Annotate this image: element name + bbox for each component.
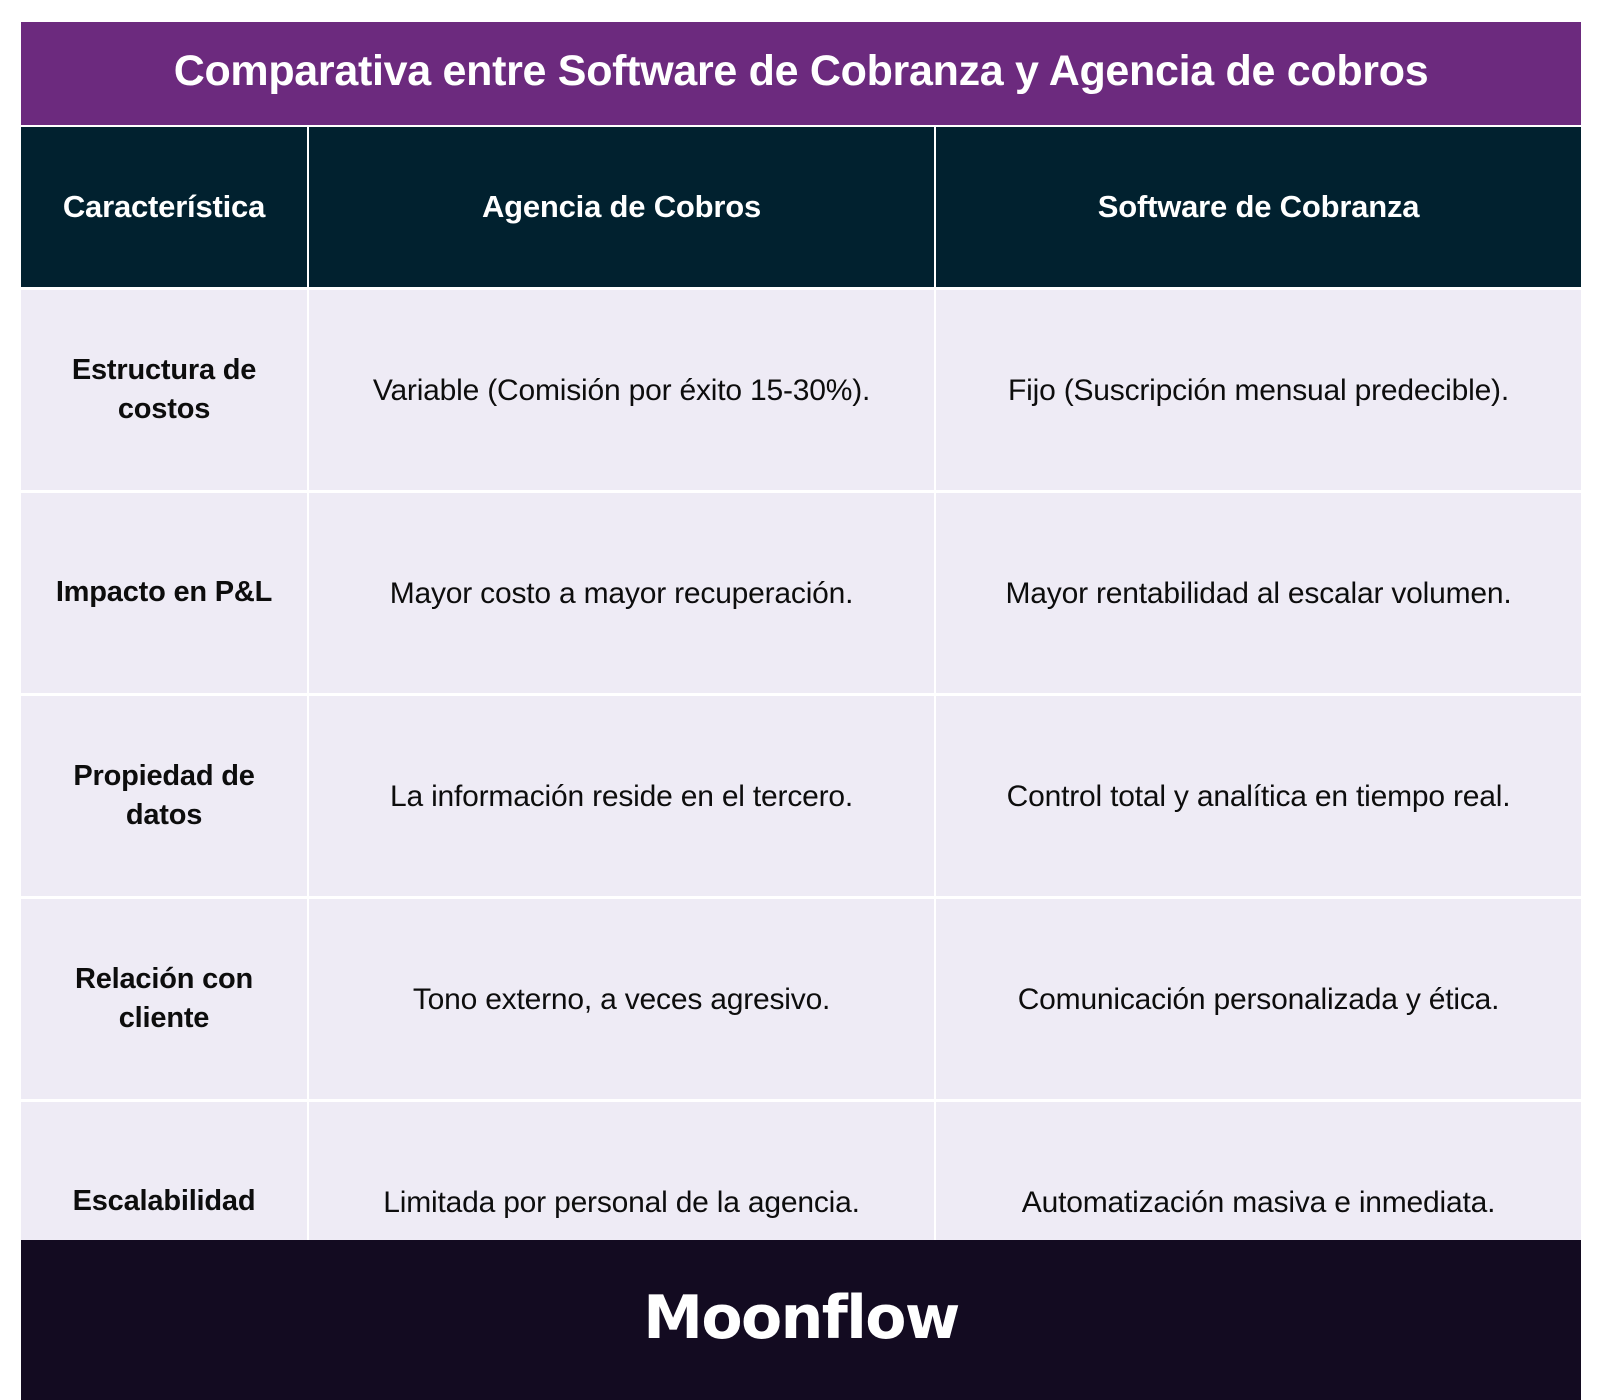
table-header: Comparativa entre Software de Cobranza y… [21,22,1581,289]
row-agency-value: Mayor costo a mayor recuperación. [308,492,935,695]
table-row: Propiedad de datos La información reside… [21,695,1581,898]
table-column-header-row: Característica Agencia de Cobros Softwar… [21,126,1581,289]
table-title: Comparativa entre Software de Cobranza y… [21,22,1581,126]
row-agency-value: La información reside en el tercero. [308,695,935,898]
column-header-caracteristica: Característica [21,126,308,289]
table-row: Estructura de costos Variable (Comisión … [21,289,1581,492]
row-feature-label: Impacto en P&L [21,492,308,695]
row-software-value: Mayor rentabilidad al escalar volumen. [935,492,1581,695]
row-agency-value: Variable (Comisión por éxito 15-30%). [308,289,935,492]
row-feature-label: Estructura de costos [21,289,308,492]
table-row: Relación con cliente Tono externo, a vec… [21,898,1581,1101]
comparison-infographic: Comparativa entre Software de Cobranza y… [0,0,1600,1400]
row-software-value: Fijo (Suscripción mensual predecible). [935,289,1581,492]
row-software-value: Control total y analítica en tiempo real… [935,695,1581,898]
footer-brand-bar: Moonflow [21,1240,1581,1400]
row-feature-label: Propiedad de datos [21,695,308,898]
table-title-row: Comparativa entre Software de Cobranza y… [21,22,1581,126]
column-header-agencia-de-cobros: Agencia de Cobros [308,126,935,289]
column-header-software-de-cobranza: Software de Cobranza [935,126,1581,289]
row-agency-value: Tono externo, a veces agresivo. [308,898,935,1101]
table-body: Estructura de costos Variable (Comisión … [21,289,1581,1303]
table-row: Impacto en P&L Mayor costo a mayor recup… [21,492,1581,695]
row-software-value: Comunicación personalizada y ética. [935,898,1581,1101]
moonflow-logo: Moonflow [643,1288,958,1348]
row-feature-label: Relación con cliente [21,898,308,1101]
comparison-table: Comparativa entre Software de Cobranza y… [21,22,1581,1302]
comparison-table-container: Comparativa entre Software de Cobranza y… [21,22,1581,1302]
